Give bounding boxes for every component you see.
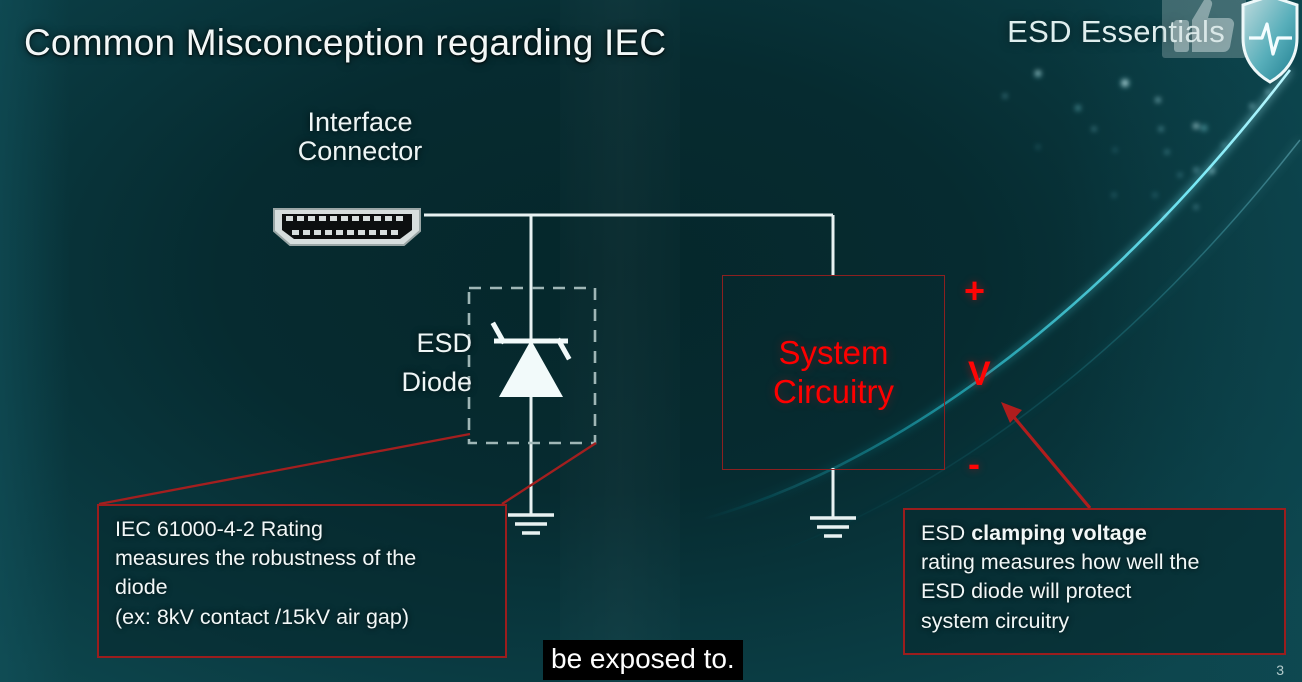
slide-canvas: Common Misconception regarding IEC ESD E… — [0, 0, 1302, 682]
callout-right-line3: ESD diode will protect — [921, 577, 1270, 606]
video-caption: be exposed to. — [543, 640, 743, 680]
ground-symbol-system — [810, 518, 856, 536]
esd-label-line2: Diode — [352, 363, 472, 402]
callout-left-line1: IEC 61000-4-2 Rating — [115, 515, 491, 544]
page-number: 3 — [1276, 662, 1284, 678]
system-label-line2: Circuitry — [773, 373, 894, 412]
callout-arrow-right — [1001, 402, 1090, 508]
callout-right-line2: rating measures how well the — [921, 548, 1270, 577]
system-circuitry-label: System Circuitry — [773, 334, 894, 412]
voltage-marker-minus: - — [968, 443, 980, 485]
iec-rating-callout: IEC 61000-4-2 Rating measures the robust… — [97, 504, 507, 658]
esd-label-line1: ESD — [352, 324, 472, 363]
callout-left-line2: measures the robustness of the — [115, 544, 491, 573]
iec-rating-callout-text: IEC 61000-4-2 Rating measures the robust… — [99, 506, 505, 632]
system-label-line1: System — [773, 334, 894, 373]
callout-right-prefix: ESD — [921, 521, 971, 545]
clamping-voltage-callout-text: ESD clamping voltage rating measures how… — [905, 510, 1284, 636]
callout-right-line1: ESD clamping voltage — [921, 519, 1270, 548]
esd-diode-label: ESD Diode — [352, 324, 472, 402]
clamping-voltage-callout: ESD clamping voltage rating measures how… — [903, 508, 1286, 655]
voltage-marker-value: V — [968, 355, 991, 394]
callout-right-bold: clamping voltage — [971, 521, 1147, 545]
callout-right-line4: system circuitry — [921, 607, 1270, 636]
callout-leader-lines-left — [99, 434, 596, 504]
ground-symbol-diode — [508, 515, 554, 533]
system-circuitry-block: System Circuitry — [722, 275, 945, 470]
callout-left-line3: diode — [115, 573, 491, 602]
voltage-marker-plus: + — [964, 270, 985, 312]
callout-left-line4: (ex: 8kV contact /15kV air gap) — [115, 603, 491, 632]
